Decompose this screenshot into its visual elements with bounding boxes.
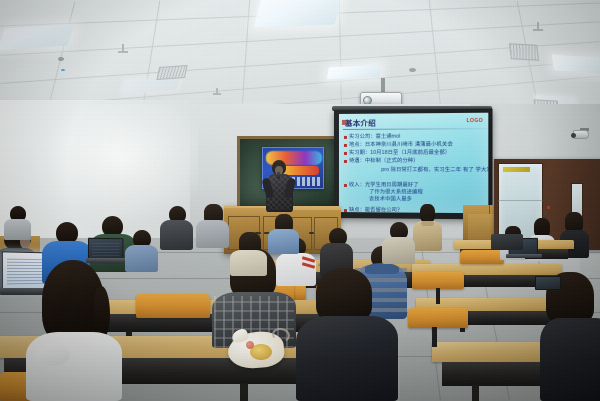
slide-bullet-text: 去技术中国人最多 <box>369 196 412 202</box>
smoke-detector <box>58 57 64 61</box>
slide-bullet-line: 了作为很大系统进编程 <box>369 189 423 195</box>
presentation-slide: 基本介绍 LOGO 实习公司：富士通mol地点：日本神奈川县川崎市 溝蒲最小机关… <box>339 113 488 214</box>
slide-bullet-text: pro 除日常打工都有、实习生二年 有了 学大家 了） <box>381 167 488 173</box>
student-torso <box>540 318 600 401</box>
projection-screen[interactable]: 基本介绍 LOGO 实习公司：富士通mol地点：日本神奈川县川崎市 溝蒲最小机关… <box>334 109 493 220</box>
student-torso <box>4 219 31 240</box>
door-glass-mullion <box>498 200 543 201</box>
student-torso <box>125 245 158 272</box>
bullet-marker-icon <box>344 143 347 146</box>
slide-bullet-line: 去技术中国人最多 <box>369 196 412 202</box>
slide-title: 基本介绍 <box>345 118 376 129</box>
student-torso <box>230 250 267 276</box>
slide-bullet-line: 地点：日本神奈川县川崎市 溝蒲最小机关会 <box>344 142 453 148</box>
slide-bullet-text: 实习期：10月18日至（1月底前后最全部） <box>349 150 450 156</box>
jacket-collar <box>421 221 434 226</box>
slide-bullet-line: pro 除日常打工都有、实习生二年 有了 学大家 了） <box>381 167 488 173</box>
slide-title-rule <box>343 128 488 130</box>
chair <box>408 308 468 328</box>
sprinkler-head <box>118 51 128 53</box>
slide-bullet-list: 实习公司：富士通mol地点：日本神奈川县川崎市 溝蒲最小机关会实习期：10月18… <box>339 113 488 114</box>
student-back-row-e <box>382 222 416 264</box>
slide-bullet-line: 实习公司：富士通mol <box>344 134 400 140</box>
classroom-photo: 基本介绍 LOGO 实习公司：富士通mol地点：日本神奈川县川崎市 溝蒲最小机关… <box>0 0 600 401</box>
smoke-detector <box>409 68 416 72</box>
air-vent <box>156 65 187 80</box>
presenter <box>262 160 296 210</box>
blouse-shoulder-seam <box>36 344 70 366</box>
equipment-case <box>491 234 523 250</box>
slide-bullet-text: 待遇：中标制（正式的分种） <box>349 158 419 164</box>
student-torso <box>296 316 398 401</box>
bullet-marker-icon <box>344 184 347 187</box>
microphone-head-icon <box>276 168 281 172</box>
slide-bullet-text: 实习公司：富士通mol <box>349 134 400 140</box>
sprinkler-head <box>533 29 543 31</box>
blue-indicator-light <box>61 69 65 71</box>
door-latch-indicator <box>547 206 550 209</box>
student-torso <box>196 220 229 248</box>
laptop-screen[interactable] <box>535 276 561 290</box>
slide-bullet-text: 收入：光学生用日周期最好了 <box>349 182 419 188</box>
student-right-foreground <box>540 272 600 401</box>
front-seated-student <box>412 204 444 252</box>
slide-bullet-line: 待遇：中标制（正式的分种） <box>344 158 419 164</box>
student-hair <box>316 268 372 322</box>
student-torso <box>26 332 122 401</box>
bag-contents-secondary <box>246 341 254 349</box>
student-back-row-b <box>196 204 230 248</box>
bullet-marker-icon <box>344 209 347 212</box>
ceiling-light-panel <box>552 54 600 73</box>
student-back-row-d <box>268 214 300 254</box>
bullet-marker-icon <box>344 151 347 154</box>
door-sign <box>503 167 530 172</box>
camera-lens-icon <box>571 133 576 138</box>
student-back-row-f <box>125 230 159 272</box>
student-torso <box>382 237 415 264</box>
bullet-marker-icon <box>344 159 347 162</box>
student-back-row-a <box>160 206 194 250</box>
bullet-marker-icon <box>344 135 347 138</box>
slide-bullet-line: 实习期：10月18日至（1月底前后最全部） <box>344 150 450 156</box>
slide-logo: LOGO <box>466 118 483 124</box>
laptop-screen[interactable] <box>88 238 123 260</box>
hair-strand <box>94 286 110 338</box>
student-back-row-c <box>230 232 268 276</box>
chair <box>412 272 464 289</box>
air-vent <box>509 43 539 60</box>
sprinkler-head <box>213 93 221 95</box>
student-hair <box>565 212 583 232</box>
student-torso <box>160 220 193 250</box>
chair <box>460 250 504 264</box>
student-far-left-a <box>4 206 32 240</box>
ceiling-light-panel <box>254 0 342 27</box>
slide-bullet-text: 了作为很大系统进编程 <box>369 189 423 195</box>
laptop-base[interactable] <box>506 254 542 258</box>
slide-bullet-text: 缺点：能否留在公司？ <box>349 207 402 213</box>
student-white-blouse <box>22 260 126 401</box>
slide-bullet-line: 收入：光学生用日周期最好了 <box>344 182 419 188</box>
student-torso <box>268 229 299 254</box>
slide-bullet-line: 缺点：能否留在公司？ <box>344 207 402 213</box>
chair <box>136 294 210 318</box>
student-dark-suit <box>296 268 400 401</box>
slide-bullet-text: 地点：日本神奈川县川崎市 溝蒲最小机关会 <box>349 142 453 148</box>
